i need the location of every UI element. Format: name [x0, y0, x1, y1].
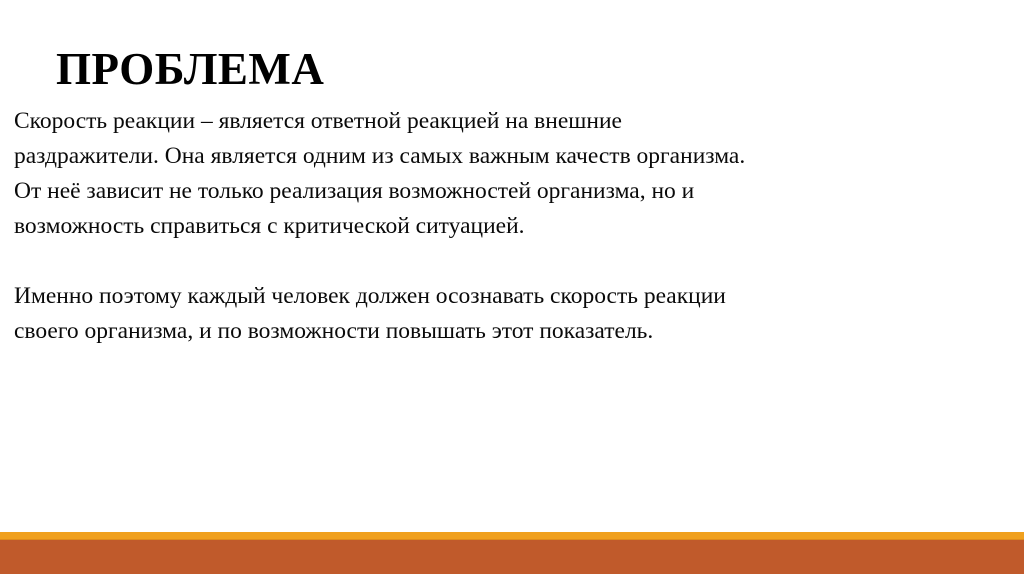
paragraph-2-line-1: Именно поэтому каждый человек должен осо… [14, 279, 1014, 314]
paragraph-1-line-3: От неё зависит не только реализация возм… [14, 174, 1014, 209]
paragraph-1-line-1: Скорость реакции – является ответной реа… [14, 104, 1014, 139]
footer-accent-thick-bar [0, 540, 1024, 574]
paragraph-1-line-4: возможность справиться с критической сит… [14, 209, 1014, 244]
paragraph-spacer [14, 244, 1014, 279]
footer-decoration [0, 532, 1024, 574]
slide-body: Скорость реакции – является ответной реа… [14, 104, 1014, 349]
paragraph-2: Именно поэтому каждый человек должен осо… [14, 279, 1014, 349]
paragraph-2-line-2: своего организма, и по возможности повыш… [14, 314, 1014, 349]
paragraph-1-line-2: раздражители. Она является одним из самы… [14, 139, 1014, 174]
page-title: ПРОБЛЕМА [56, 44, 956, 96]
paragraph-1: Скорость реакции – является ответной реа… [14, 104, 1014, 244]
footer-accent-thin-bar [0, 532, 1024, 539]
slide-canvas: ПРОБЛЕМА Скорость реакции – является отв… [0, 0, 1024, 574]
